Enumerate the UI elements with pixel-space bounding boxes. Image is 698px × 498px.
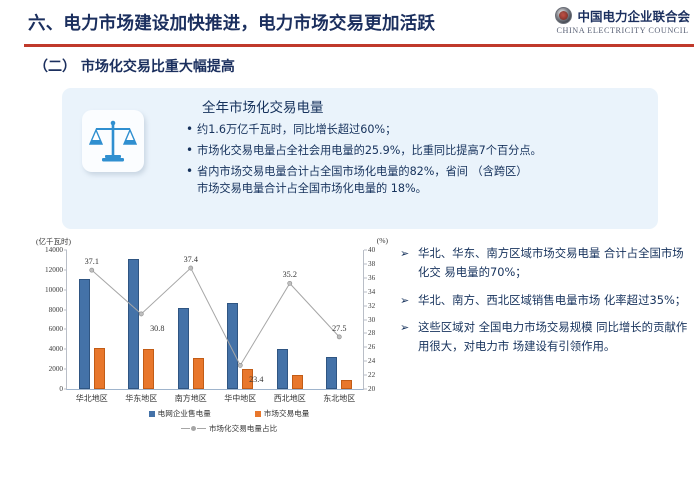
y-tick-label: 10000 <box>45 286 63 294</box>
y-tick-label: 6000 <box>49 325 63 333</box>
arrow-bullet-icon: ➢ <box>400 292 409 310</box>
info-bullet-3-text: 省内市场交易电量合计占全国市场化电量的82%，省间 （含跨区） <box>197 165 528 178</box>
y2-tick-mark <box>364 291 367 292</box>
legend-item-grid-sales: 电网企业售电量 <box>149 408 211 419</box>
data-label: 37.4 <box>184 255 198 264</box>
y2-tick-label: 38 <box>368 260 375 268</box>
right-bullet-3: ➢ 这些区域对 全国电力市场交易规模 同比增长的贡献作用很大，对电力市 场建设有… <box>400 318 690 356</box>
y2-tick-label: 30 <box>368 316 375 324</box>
y-tick-label: 4000 <box>49 345 63 353</box>
data-label: 27.5 <box>332 324 346 333</box>
y2-tick-label: 32 <box>368 302 375 310</box>
x-tick-label: 西北地区 <box>274 393 306 404</box>
x-tick-label: 东北地区 <box>323 393 355 404</box>
right-bullet-2-line1: 华北、南方、西北区域销售电量市场 <box>418 293 600 307</box>
regional-market-chart: (亿千瓦时) (%) 02000400060008000100001200014… <box>24 236 396 448</box>
y2-tick-label: 20 <box>368 385 375 393</box>
y2-tick-mark <box>364 263 367 264</box>
chart-legend: 电网企业售电量 市场交易电量 市场化交易电量占比 <box>64 408 394 434</box>
legend-label-market-share: 市场化交易电量占比 <box>209 423 277 434</box>
info-bullet-2: 市场化交易电量占全社会用电量的25.9%，比重同比提高7个百分点。 <box>186 142 646 159</box>
y2-tick-mark <box>364 319 367 320</box>
page-title: 六、电力市场建设加快推进，电力市场交易更加活跃 <box>28 10 435 35</box>
y-tick-label: 12000 <box>45 266 63 274</box>
cec-seal-icon <box>555 7 572 24</box>
y-tick-label: 2000 <box>49 365 63 373</box>
y2-tick-mark <box>364 389 367 390</box>
legend-swatch-orange-icon <box>255 411 261 417</box>
right-notes-panel: ➢ 华北、华东、南方区域市场交易电量 合计占全国市场化交 易电量的70%； ➢ … <box>400 244 690 365</box>
y-tick-label: 8000 <box>49 306 63 314</box>
y2-tick-mark <box>364 277 367 278</box>
y2-tick-mark <box>364 347 367 348</box>
right-bullet-1-line1: 华北、华东、南方区域市场交易电量 <box>418 246 600 260</box>
legend-label-grid-sales: 电网企业售电量 <box>158 408 211 419</box>
data-label: 30.8 <box>150 324 164 333</box>
y2-tick-label: 24 <box>368 357 375 365</box>
x-tick-label: 南方地区 <box>175 393 207 404</box>
y2-tick-mark <box>364 305 367 306</box>
slide-header: 六、电力市场建设加快推进，电力市场交易更加活跃 中国电力企业联合会 CHINA … <box>0 0 698 52</box>
right-bullet-2-line2: 化率超过35%； <box>604 293 686 307</box>
y2-axis-unit-label: (%) <box>377 236 388 245</box>
y2-tick-label: 40 <box>368 246 375 254</box>
y2-tick-mark <box>364 361 367 362</box>
y2-tick-label: 36 <box>368 274 375 282</box>
legend-swatch-blue-icon <box>149 411 155 417</box>
brand-name-en: CHINA ELECTRICITY COUNCIL <box>556 26 690 35</box>
y2-tick-label: 28 <box>368 329 375 337</box>
x-tick-label: 华中地区 <box>224 393 256 404</box>
data-label: 23.4 <box>249 375 263 384</box>
section-subtitle: （二） 市场化交易比重大幅提高 <box>34 56 235 76</box>
y2-tick-mark <box>364 250 367 251</box>
info-bullet-3-text-cont: 市场交易电量合计占全国市场化电量的 18%。 <box>197 180 646 197</box>
y2-tick-label: 34 <box>368 288 375 296</box>
info-bullet-2-text: 市场化交易电量占全社会用电量的25.9%，比重同比提高7个百分点。 <box>197 144 542 157</box>
arrow-bullet-icon: ➢ <box>400 245 409 263</box>
brand-name-cn: 中国电力企业联合会 <box>577 6 690 25</box>
legend-line-marker-icon <box>181 426 206 431</box>
info-card: 全年市场化交易电量 约1.6万亿千瓦时，同比增长超过60%； 市场化交易电量占全… <box>62 88 658 229</box>
info-card-title: 全年市场化交易电量 <box>202 96 324 116</box>
y-tick-label: 14000 <box>45 246 63 254</box>
info-bullet-1: 约1.6万亿千瓦时，同比增长超过60%； <box>186 121 646 138</box>
y2-tick-label: 26 <box>368 343 375 351</box>
y2-tick-label: 22 <box>368 371 375 379</box>
legend-label-market-volume: 市场交易电量 <box>264 408 310 419</box>
y2-tick-mark <box>364 333 367 334</box>
data-label: 35.2 <box>283 270 297 279</box>
arrow-bullet-icon: ➢ <box>400 319 409 337</box>
legend-item-market-share: 市场化交易电量占比 <box>181 423 277 434</box>
chart-plot-area: 0200040006000800010000120001400020222426… <box>66 250 364 390</box>
info-bullet-3: 省内市场交易电量合计占全国市场化电量的82%，省间 （含跨区） 市场交易电量合计… <box>186 163 646 197</box>
x-tick-label: 华北地区 <box>76 393 108 404</box>
right-bullet-3-line3: 场建设有引领作用。 <box>513 339 616 353</box>
info-card-bullets: 约1.6万亿千瓦时，同比增长超过60%； 市场化交易电量占全社会用电量的25.9… <box>186 121 646 201</box>
header-divider <box>24 44 694 47</box>
right-bullet-3-line1: 这些区域对 全国电力市场交易规模 <box>418 320 592 334</box>
y-tick-label: 0 <box>59 385 63 393</box>
legend-item-market-volume: 市场交易电量 <box>255 408 310 419</box>
brand-logo: 中国电力企业联合会 CHINA ELECTRICITY COUNCIL <box>555 6 690 35</box>
right-bullet-1: ➢ 华北、华东、南方区域市场交易电量 合计占全国市场化交 易电量的70%； <box>400 244 690 282</box>
info-bullet-1-text: 约1.6万亿千瓦时，同比增长超过60%； <box>197 123 396 136</box>
right-bullet-2: ➢ 华北、南方、西北区域销售电量市场 化率超过35%； <box>400 291 690 310</box>
y2-tick-mark <box>364 375 367 376</box>
line-series-market-share <box>67 250 364 389</box>
secondary-y-axis <box>363 250 364 390</box>
x-tick-label: 华东地区 <box>125 393 157 404</box>
balance-scale-icon <box>82 110 144 172</box>
data-label: 37.1 <box>85 257 99 266</box>
